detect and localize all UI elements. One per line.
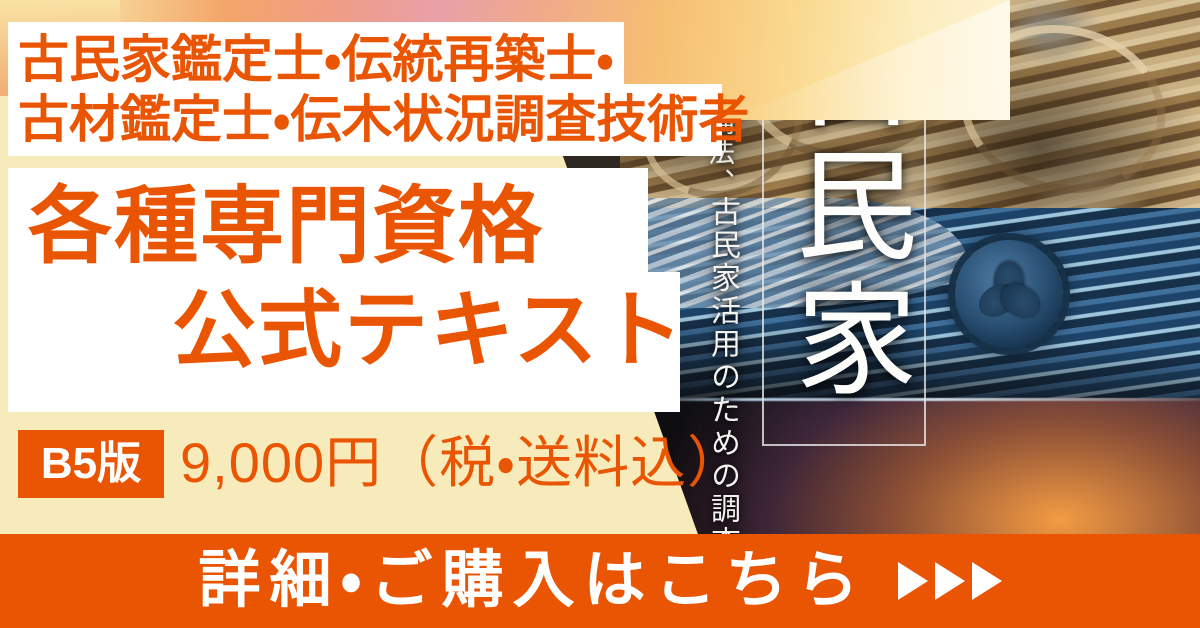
promo-banner: 古民家 伝統構法、 古民家活用のための調査と再生の 古民家鑑定士・伝統再築士・ … xyxy=(0,0,1200,628)
format-badge-label: B5版 xyxy=(41,442,141,486)
cta-arrow-group xyxy=(898,562,1002,600)
triangle-right-icon xyxy=(935,562,965,600)
certification-line-1: 古民家鑑定士・伝統再築士・ xyxy=(18,34,614,85)
price-label: 9,000円（税・送料込） xyxy=(180,432,744,494)
crest-leaf-shape xyxy=(973,278,1023,324)
cta-bar[interactable]: 詳細・ご購入はこちら xyxy=(0,534,1200,628)
headline-line-1: 各種専門資格 xyxy=(28,184,544,268)
triangle-right-icon xyxy=(898,562,928,600)
format-badge: B5版 xyxy=(18,430,164,498)
cta-label: 詳細・ご購入はこちら xyxy=(198,550,867,612)
family-crest-icon xyxy=(955,240,1063,348)
headline-line-2: 公式テキスト xyxy=(172,288,685,372)
triangle-right-icon xyxy=(972,562,1002,600)
certification-line-2: 古材鑑定士・伝木状況調査技術者 xyxy=(18,94,749,145)
